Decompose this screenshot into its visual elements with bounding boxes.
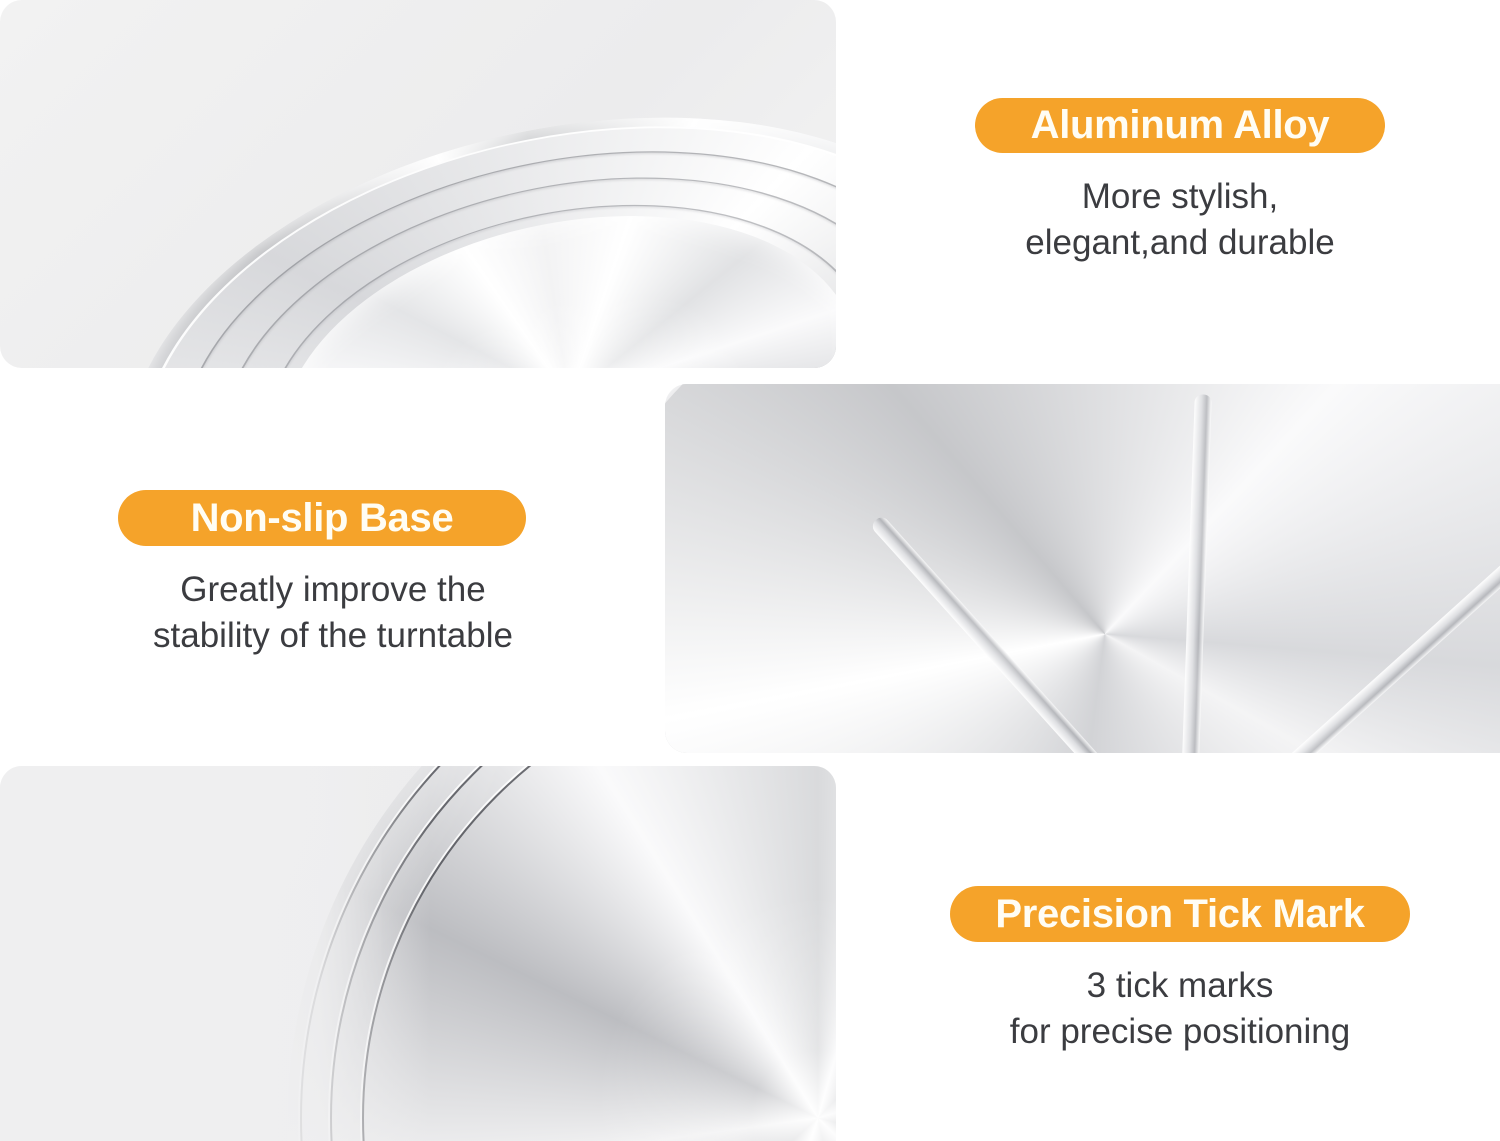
description-line-2: for precise positioning — [950, 1009, 1410, 1055]
aluminum-disc-illustration — [0, 0, 836, 368]
panel-precision-tick-mark-photo: 11.2 in 9.9 in 8.9 in 7.9 in — [0, 766, 836, 1141]
badge-non-slip-base: Non-slip Base — [118, 490, 526, 546]
product-infographic: Aluminum Alloy More stylish, elegant,and… — [0, 0, 1500, 1141]
turntable-underside-illustration — [665, 384, 1500, 753]
description-line-2: elegant,and durable — [975, 220, 1385, 266]
description-line-1: 3 tick marks — [950, 963, 1410, 1009]
tick-mark-disc-illustration — [0, 766, 836, 1141]
badge-aluminum-alloy: Aluminum Alloy — [975, 98, 1385, 153]
description-non-slip-base: Greatly improve the stability of the tur… — [118, 567, 548, 658]
panel-aluminum-alloy-photo — [0, 0, 836, 368]
badge-precision-tick-mark: Precision Tick Mark — [950, 886, 1410, 942]
description-line-1: Greatly improve the — [118, 567, 548, 613]
panel-non-slip-base-photo — [665, 384, 1500, 753]
panel-left-fade — [0, 766, 430, 1141]
description-aluminum-alloy: More stylish, elegant,and durable — [975, 174, 1385, 265]
description-line-1: More stylish, — [975, 174, 1385, 220]
description-precision-tick-mark: 3 tick marks for precise positioning — [950, 963, 1410, 1054]
description-line-2: stability of the turntable — [118, 613, 548, 659]
